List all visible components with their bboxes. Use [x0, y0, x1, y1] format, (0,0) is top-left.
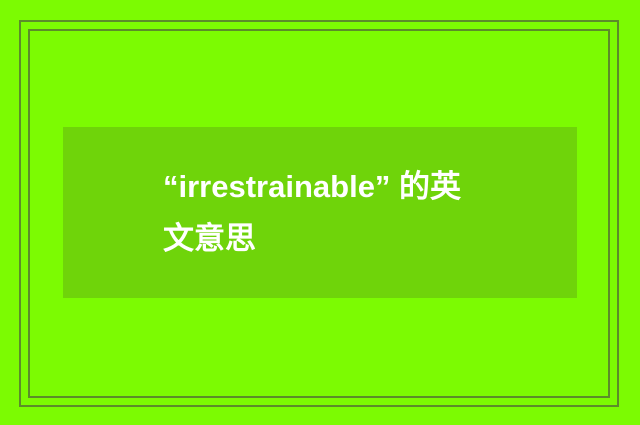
headline-text-container: “irrestrainable” 的英文意思: [63, 127, 577, 298]
image-canvas: “irrestrainable” 的英文意思: [0, 0, 640, 425]
headline-panel: “irrestrainable” 的英文意思: [63, 127, 577, 298]
headline-title: “irrestrainable” 的英文意思: [163, 161, 477, 265]
